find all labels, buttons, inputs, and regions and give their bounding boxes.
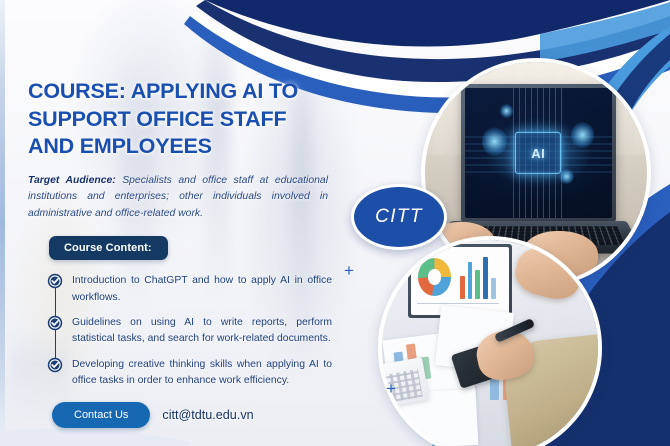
citt-logo-text: CITT — [351, 184, 447, 250]
target-audience: Target Audience: Specialists and office … — [28, 173, 328, 224]
check-circle-icon — [47, 315, 63, 331]
meeting-scene — [382, 240, 598, 446]
page-title: COURSE: APPLYING AI TO SUPPORT OFFICE ST… — [28, 78, 332, 161]
tablet-bar-1 — [460, 276, 465, 299]
list-item: Introduction to ChatGPT and how to apply… — [47, 273, 332, 306]
check-circle-icon — [47, 357, 63, 373]
laptop-lid: AI — [461, 84, 616, 222]
citt-logo: CITT — [351, 184, 447, 250]
photo-analytics-meeting — [378, 236, 602, 446]
contact-email[interactable]: citt@tdtu.edu.vn — [162, 408, 253, 422]
plus-mark-2: + — [386, 380, 396, 397]
list-item: Developing creative thinking skills when… — [47, 357, 332, 390]
donut-chart — [418, 258, 451, 296]
laptop-screen: AI — [465, 88, 612, 218]
list-item-text: Developing creative thinking skills when… — [72, 357, 332, 390]
poster-banner: AI — [0, 0, 670, 446]
glow-node-2 — [571, 122, 595, 148]
tablet-axis — [417, 303, 499, 305]
course-content-badge: Course Content: — [49, 236, 168, 260]
ai-chip-label: AI — [515, 132, 561, 174]
target-audience-label: Target Audience: — [28, 175, 116, 186]
tablet-bar-3 — [475, 270, 480, 298]
glow-node-3 — [500, 104, 513, 118]
list-item-text: Guidelines on using AI to write reports,… — [72, 315, 332, 348]
tablet-bar-2 — [468, 262, 473, 298]
check-circle-icon — [47, 273, 63, 289]
list-item-text: Introduction to ChatGPT and how to apply… — [72, 273, 332, 306]
left-accent-strip — [0, 0, 5, 446]
hand-pointing — [511, 241, 585, 303]
tablet-screen — [411, 247, 509, 314]
contact-us-button[interactable]: Contact Us — [52, 402, 150, 428]
glow-node-1 — [482, 127, 507, 156]
tablet-bar-5 — [491, 278, 496, 298]
list-item: Guidelines on using AI to write reports,… — [47, 315, 332, 348]
course-content-list: Introduction to ChatGPT and how to apply… — [47, 273, 332, 390]
contact-row: Contact Us citt@tdtu.edu.vn — [52, 402, 254, 428]
content-column: COURSE: APPLYING AI TO SUPPORT OFFICE ST… — [28, 78, 332, 390]
plus-mark-1: + — [344, 262, 354, 279]
tablet-bar-4 — [483, 257, 488, 299]
